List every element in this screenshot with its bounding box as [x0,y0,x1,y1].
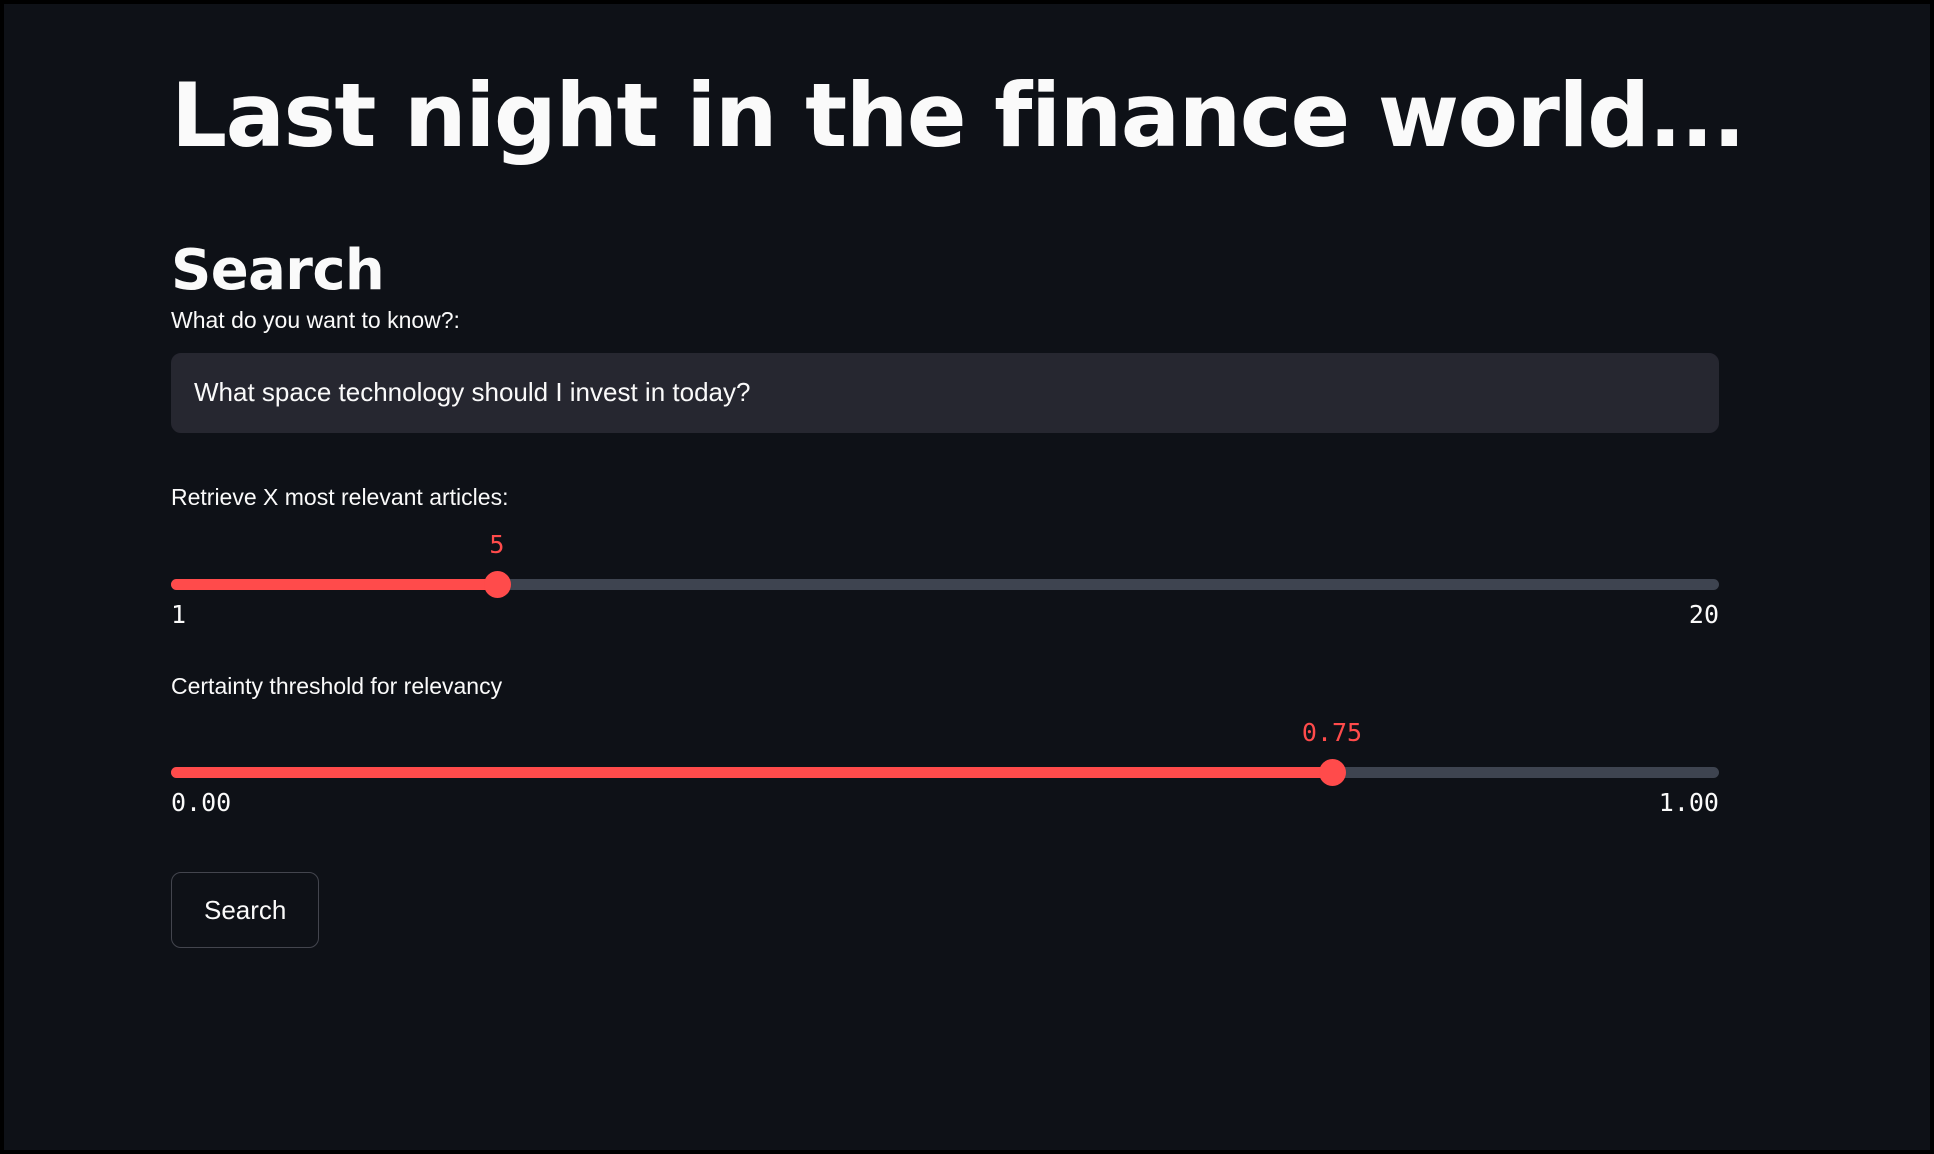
certainty-slider-block: Certainty threshold for relevancy 0.75 0… [171,668,1719,811]
question-field-block: What do you want to know?: [171,302,1719,433]
articles-slider-min: 1 [171,600,186,629]
search-button[interactable]: Search [171,872,319,948]
articles-slider-block: Retrieve X most relevant articles: 5 1 2… [171,479,1719,622]
articles-slider-fill [171,579,497,590]
certainty-slider[interactable]: 0.75 0.00 1.00 [171,718,1719,810]
articles-slider-label: Retrieve X most relevant articles: [171,479,1719,516]
certainty-slider-fill [171,767,1332,778]
app-root: Last night in the finance world... Searc… [4,4,1930,1150]
question-input-label: What do you want to know?: [171,302,1719,339]
articles-slider-value: 5 [489,530,504,559]
main-content: Last night in the finance world... Searc… [171,4,1719,948]
submit-row: Search [171,872,1719,948]
certainty-slider-thumb[interactable] [1319,759,1346,786]
section-heading-search: Search [171,240,1719,302]
certainty-slider-track[interactable] [171,767,1719,778]
certainty-slider-value: 0.75 [1302,718,1362,747]
certainty-slider-max: 1.00 [1659,788,1719,817]
certainty-slider-min: 0.00 [171,788,231,817]
articles-slider[interactable]: 5 1 20 [171,530,1719,622]
articles-slider-bounds: 1 20 [171,600,1719,629]
question-input-wrap [171,353,1719,433]
question-input[interactable] [171,353,1719,433]
certainty-slider-bounds: 0.00 1.00 [171,788,1719,817]
articles-slider-thumb[interactable] [484,571,511,598]
page-title: Last night in the finance world... [171,70,1719,162]
certainty-slider-label: Certainty threshold for relevancy [171,668,1719,705]
articles-slider-track[interactable] [171,579,1719,590]
articles-slider-max: 20 [1689,600,1719,629]
